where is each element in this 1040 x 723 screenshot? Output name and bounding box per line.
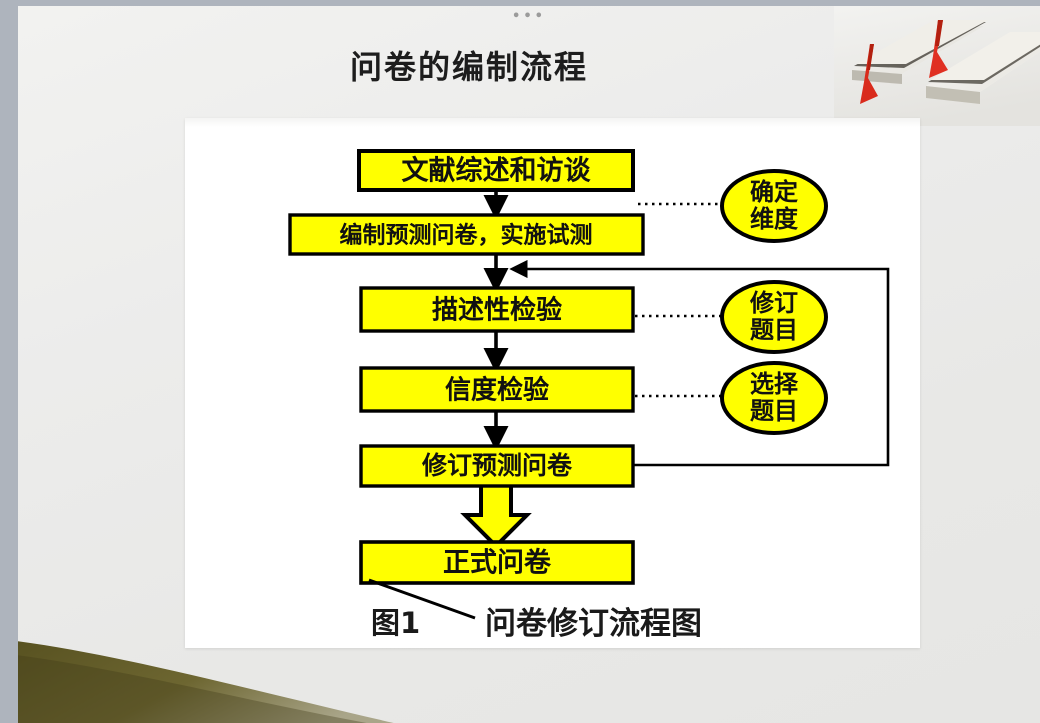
figure-number: 图1 [371,606,420,640]
annotation-e3-line1: 选择 [750,370,799,398]
flow-node-n5[interactable]: 修订预测问卷 [361,446,633,486]
flow-node-n3[interactable]: 描述性检验 [361,288,633,331]
annotation-ellipse-e1[interactable]: 确定 维度 [722,171,826,241]
flow-node-n6-label: 正式问卷 [443,548,552,579]
annotation-e1-line1: 确定 [750,178,798,206]
flow-node-n3-label: 描述性检验 [432,295,562,326]
annotation-ellipse-e2[interactable]: 修订 题目 [722,282,826,352]
flow-node-n2-label: 编制预测问卷，实施试测 [340,222,593,249]
flow-node-n1-label: 文献综述和访谈 [402,155,592,187]
questionnaire-flowchart: 文献综述和访谈 编制预测问卷，实施试测 描述性检验 信度检验 修订预测问卷 正式 [185,118,920,648]
annotation-e3-line2: 题目 [750,397,798,425]
flow-node-n6[interactable]: 正式问卷 [361,542,633,583]
block-arrow-n5-n6 [465,478,527,546]
flow-node-n1[interactable]: 文献综述和访谈 [359,151,633,190]
flowchart-panel: 文献综述和访谈 编制预测问卷，实施试测 描述性检验 信度检验 修订预测问卷 正式 [185,118,920,648]
flow-node-n2[interactable]: 编制预测问卷，实施试测 [290,215,643,254]
slide-canvas: ••• 问卷的编制流程 [18,6,1040,723]
flow-node-n4[interactable]: 信度检验 [361,368,633,411]
annotation-e2-line2: 题目 [750,316,798,344]
annotation-e1-line2: 维度 [750,205,799,233]
figure-caption: 问卷修订流程图 [485,606,702,642]
annotation-ellipse-e3[interactable]: 选择 题目 [722,363,826,433]
annotation-e2-line1: 修订 [749,289,798,317]
flow-node-n5-label: 修订预测问卷 [421,451,573,480]
flow-node-n4-label: 信度检验 [445,375,549,406]
books-photo [834,6,1040,126]
